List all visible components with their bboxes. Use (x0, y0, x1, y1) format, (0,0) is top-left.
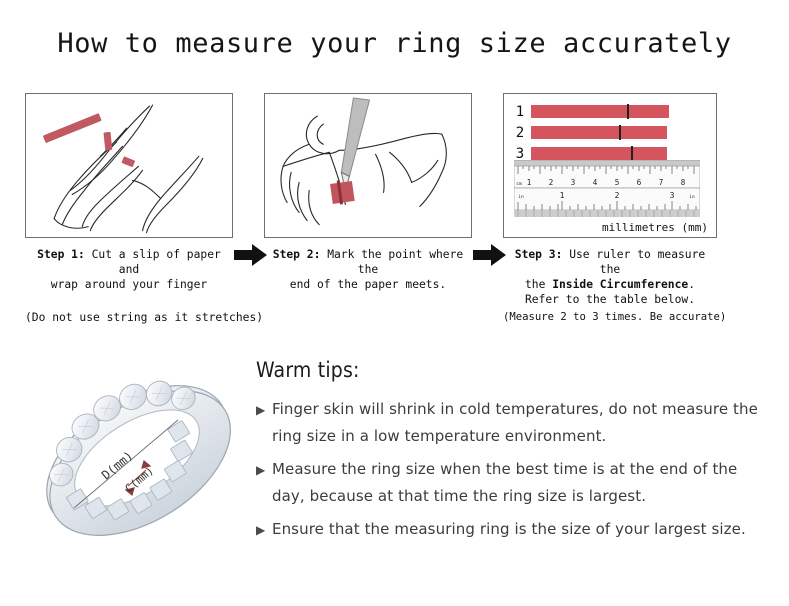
ruler-icon: cm 123 456 78 in 123 in (514, 160, 700, 218)
svg-text:4: 4 (593, 178, 598, 187)
hand-marking-paper-with-pen-icon (265, 94, 471, 235)
bar-mark-tick (627, 104, 629, 119)
step-1-label: Step 1: (37, 248, 85, 261)
tip-text: Ensure that the measuring ring is the si… (272, 516, 746, 544)
svg-text:1: 1 (527, 178, 532, 187)
diamond-eternity-ring-icon: D(mm) C(mm) (28, 358, 246, 558)
svg-text:5: 5 (615, 178, 620, 187)
svg-text:6: 6 (637, 178, 642, 187)
arrow-right-icon (473, 243, 507, 267)
step-1-caption-line2: wrap around your finger (51, 278, 207, 291)
svg-text:in: in (689, 194, 695, 200)
svg-text:cm: cm (516, 182, 522, 187)
bar-number: 1 (512, 104, 528, 120)
step-2-caption: Step 2: Mark the point where the end of … (264, 247, 472, 292)
svg-text:2: 2 (615, 191, 620, 200)
step-1-panel (25, 93, 233, 238)
arrow-right-icon (234, 243, 268, 267)
hand-with-paper-strip-icon (26, 94, 232, 235)
step-2: Step 2: Mark the point where the end of … (264, 93, 472, 292)
step-1-note: (Do not use string as it stretches) (25, 311, 233, 324)
bullet-triangle-icon: ▶ (256, 456, 272, 510)
svg-text:in: in (518, 194, 524, 200)
unit-label: millimetres (mm) (602, 221, 708, 234)
paper-strip-bar (531, 126, 667, 139)
step-3-label: Step 3: (515, 248, 563, 261)
step-3-panel: 1 2 3 (503, 93, 717, 238)
bullet-triangle-icon: ▶ (256, 396, 272, 450)
paper-strip-bars: 1 2 3 (512, 102, 717, 165)
bullet-triangle-icon: ▶ (256, 516, 272, 544)
bar-row: 2 (512, 123, 717, 142)
paper-strip-bar (531, 105, 669, 118)
page-title: How to measure your ring size accurately (0, 28, 789, 59)
step-3: 1 2 3 (503, 93, 717, 307)
infographic-root: How to measure your ring size accurately (0, 0, 789, 606)
steps-row: Step 1: Cut a slip of paper and wrap aro… (0, 93, 789, 338)
svg-text:8: 8 (681, 178, 686, 187)
tip-item: ▶ Ensure that the measuring ring is the … (256, 516, 761, 544)
svg-text:3: 3 (571, 178, 576, 187)
bar-row: 1 (512, 102, 717, 121)
step-3-caption-line1: Use ruler to measure the (569, 248, 705, 276)
svg-text:2: 2 (549, 178, 554, 187)
tip-text: Finger skin will shrink in cold temperat… (272, 396, 761, 450)
svg-text:7: 7 (659, 178, 664, 187)
warm-tips-section: Warm tips: ▶ Finger skin will shrink in … (256, 358, 761, 550)
step-2-panel (264, 93, 472, 238)
tip-item: ▶ Measure the ring size when the best ti… (256, 456, 761, 510)
step-1: Step 1: Cut a slip of paper and wrap aro… (25, 93, 233, 292)
tip-item: ▶ Finger skin will shrink in cold temper… (256, 396, 761, 450)
step-1-caption: Step 1: Cut a slip of paper and wrap aro… (25, 247, 233, 292)
bar-number: 2 (512, 125, 528, 141)
tip-text: Measure the ring size when the best time… (272, 456, 761, 510)
step-2-label: Step 2: (273, 248, 321, 261)
bar-mark-tick (631, 146, 633, 161)
step-3-caption: Step 3: Use ruler to measure the the Ins… (503, 247, 717, 307)
step-3-note: (Measure 2 to 3 times. Be accurate) (503, 311, 717, 323)
step-3-caption-line3: Refer to the table below. (525, 293, 695, 306)
step-3-caption-emphasis: Inside Circumference (552, 278, 688, 291)
bar-mark-tick (619, 125, 621, 140)
paper-strip-bar (531, 147, 667, 160)
svg-text:1: 1 (560, 191, 565, 200)
svg-text:3: 3 (670, 191, 675, 200)
step-2-caption-line1: Mark the point where the (327, 248, 463, 276)
step-2-caption-line2: end of the paper meets. (290, 278, 446, 291)
step-1-caption-line1: Cut a slip of paper and (92, 248, 221, 276)
warm-tips-heading: Warm tips: (256, 358, 761, 382)
ring-diagram: D(mm) C(mm) (28, 358, 246, 558)
